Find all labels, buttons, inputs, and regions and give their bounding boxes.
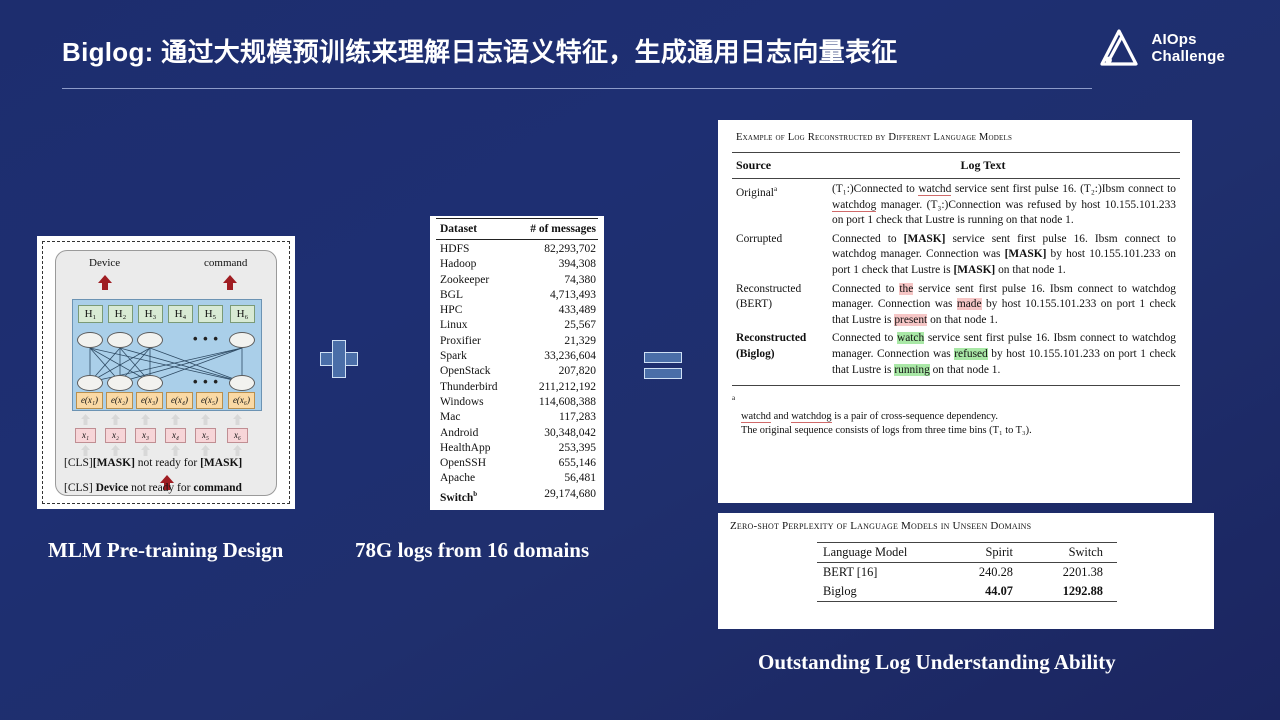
- mask-token: [MASK]: [904, 233, 946, 245]
- embedding-box: e(x₆): [228, 392, 255, 409]
- dataset-table-body: HDFS82,293,702Hadoop394,308Zookeeper74,3…: [436, 242, 598, 506]
- dataset-name-cell: Spark: [440, 349, 467, 364]
- table-row: HDFS82,293,702: [436, 242, 598, 257]
- reconstruction-logtext-cell: Connected to watch service sent first pu…: [832, 331, 1180, 378]
- mlm-pretraining-figure: Device command H₁ H₂ H₃ H₄ H₅ H₆: [37, 236, 295, 509]
- aiops-triangle-logo-icon: [1095, 24, 1143, 72]
- reconstruction-source-cell: Originala: [732, 182, 832, 229]
- perplexity-table-caption: Zero-shot Perplexity of Language Models …: [730, 520, 1204, 542]
- reconstruction-table-body: Originala(T₁:)Connected to watchd servic…: [732, 179, 1180, 378]
- embedding-box: e(x₄): [166, 392, 193, 409]
- footnote-line-1: watchd and watchdog is a pair of cross-s…: [741, 411, 998, 423]
- mlm-ellipsis-upper: • • •: [193, 331, 219, 346]
- table-row: Language Model Spirit Switch: [817, 543, 1117, 563]
- table-row: OpenStack207,820: [436, 364, 598, 379]
- perplexity-spirit-cell: 44.07: [939, 582, 1027, 602]
- reconstruction-source-cell: Reconstructed (BERT): [732, 282, 832, 329]
- dataset-name-cell: BGL: [440, 288, 463, 303]
- mlm-network-node: [107, 332, 133, 348]
- perplexity-model-cell: BERT [16]: [817, 563, 939, 583]
- aiops-challenge-logo: AIOps Challenge: [1095, 24, 1225, 72]
- log-text-segment: service sent first pulse 16. (T₂:)Ibsm c…: [951, 183, 1176, 195]
- dataset-name-cell: Hadoop: [440, 257, 476, 272]
- dataset-column-header-name: Dataset: [440, 223, 477, 235]
- page-title: Biglog: 通过大规模预训练来理解日志语义特征，生成通用日志向量表征: [62, 32, 898, 69]
- table-row: CorruptedConnected to [MASK] service sen…: [732, 229, 1180, 279]
- dataset-name-cell: OpenStack: [440, 364, 490, 379]
- log-text-segment: on that node 1.: [930, 364, 1001, 376]
- mlm-output-label-command: command: [204, 257, 247, 269]
- original-middle-words: not ready for: [131, 482, 190, 494]
- reconstruction-source-cell: Reconstructed (Biglog): [732, 331, 832, 378]
- token-box: x₃: [135, 428, 156, 443]
- source-footnote-superscript: a: [774, 185, 777, 193]
- caption-78g-logs: 78G logs from 16 domains: [355, 538, 589, 563]
- table-row: Hadoop394,308: [436, 257, 598, 272]
- dataset-message-count-cell: 207,820: [559, 364, 596, 379]
- perplexity-spirit-cell: 240.28: [939, 563, 1027, 583]
- original-cls-token: [CLS]: [64, 482, 93, 494]
- mlm-transformer-panel: H₁ H₂ H₃ H₄ H₅ H₆: [72, 299, 262, 411]
- logo-line-1: AIOps: [1152, 31, 1197, 48]
- token-box: x₂: [105, 428, 126, 443]
- log-text-segment: on that node 1.: [995, 264, 1066, 276]
- token-box: x₁: [75, 428, 96, 443]
- table-row: Biglog44.071292.88: [817, 582, 1117, 602]
- table-row: Switchb29,174,680: [436, 487, 598, 506]
- dataset-name-cell: HealthApp: [440, 441, 490, 456]
- underlined-term: watchd: [918, 183, 951, 196]
- mlm-original-sentence: [CLS] Device not ready for command: [64, 482, 242, 494]
- table-row: Zookeeper74,380: [436, 273, 598, 288]
- mask-token: [MASK]: [1005, 248, 1047, 260]
- embedding-box: e(x₅): [196, 392, 223, 409]
- table-row: Thunderbird211,212,192: [436, 380, 598, 395]
- mlm-up-arrow-icon: [111, 414, 120, 425]
- plus-sign-icon: [320, 340, 358, 378]
- token-box: x₄: [165, 428, 186, 443]
- mask-token: [MASK]: [953, 264, 995, 276]
- dataset-name-cell: Linux: [440, 318, 467, 333]
- correct-prediction-highlight: refused: [954, 348, 988, 360]
- log-text-segment: (T₁:)Connected to: [832, 183, 918, 195]
- log-text-segment: on that node 1.: [927, 314, 998, 326]
- log-text-segment: manager. (T₃:)Connection was refused by …: [832, 199, 1176, 227]
- mlm-up-arrow-icon: [141, 414, 150, 425]
- table-row: BGL4,713,493: [436, 288, 598, 303]
- perplexity-table: Language Model Spirit Switch BERT [16]24…: [817, 542, 1117, 602]
- dataset-name-cell: HPC: [440, 303, 462, 318]
- underlined-term: watchd: [741, 411, 771, 423]
- incorrect-prediction-highlight: the: [899, 283, 913, 295]
- perplexity-model-cell: Biglog: [817, 582, 939, 602]
- table-row: Originala(T₁:)Connected to watchd servic…: [732, 179, 1180, 229]
- correct-prediction-highlight: running: [894, 364, 929, 376]
- mlm-network-node: [77, 375, 103, 391]
- mlm-network-node: [229, 332, 255, 348]
- mlm-figure-dashed-border: Device command H₁ H₂ H₃ H₄ H₅ H₆: [42, 241, 290, 504]
- perplexity-column-header-model: Language Model: [817, 543, 939, 563]
- reconstruction-logtext-cell: Connected to [MASK] service sent first p…: [832, 232, 1180, 279]
- table-row: HPC433,489: [436, 303, 598, 318]
- page-header: Biglog: 通过大规模预训练来理解日志语义特征，生成通用日志向量表征 AIO…: [0, 0, 1280, 96]
- log-reconstruction-table: Example of Log Reconstructed by Differen…: [718, 120, 1192, 503]
- dataset-name-cell: Thunderbird: [440, 380, 497, 395]
- masked-cls-token: [CLS]: [64, 457, 93, 469]
- embedding-box: e(x₂): [106, 392, 133, 409]
- dataset-name-cell: Android: [440, 426, 478, 441]
- mlm-up-arrow-icon: [81, 414, 90, 425]
- mlm-up-arrow-icon: [141, 445, 150, 456]
- mlm-network-node: [229, 375, 255, 391]
- dataset-message-count-cell: 433,489: [559, 303, 596, 318]
- mlm-network-node: [77, 332, 103, 348]
- mlm-up-arrow-icon: [111, 445, 120, 456]
- dataset-message-count-cell: 114,608,388: [539, 395, 596, 410]
- dataset-message-count-cell: 82,293,702: [544, 242, 596, 257]
- token-box: x₅: [195, 428, 216, 443]
- mlm-up-arrow-icon: [233, 445, 242, 456]
- table-row: HealthApp253,395: [436, 441, 598, 456]
- dataset-message-count-cell: 74,380: [564, 273, 596, 288]
- table-row: OpenSSH655,146: [436, 456, 598, 471]
- dataset-message-count-cell: 30,348,042: [544, 426, 596, 441]
- dataset-message-count-cell: 33,236,604: [544, 349, 596, 364]
- masked-token-2: [MASK]: [200, 457, 242, 469]
- original-word-device: Device: [96, 482, 129, 494]
- perplexity-switch-cell: 2201.38: [1027, 563, 1117, 583]
- dataset-message-count-cell: 56,481: [564, 471, 596, 486]
- reconstruction-table-footnote: a watchd and watchdog is a pair of cross…: [732, 385, 1180, 437]
- table-row: Linux25,567: [436, 318, 598, 333]
- dataset-name-cell: HDFS: [440, 242, 469, 257]
- equals-sign-icon: [644, 352, 682, 378]
- perplexity-switch-cell: 1292.88: [1027, 582, 1117, 602]
- reconstruction-column-header-logtext: Log Text: [832, 158, 1180, 173]
- mlm-figure-card: Device command H₁ H₂ H₃ H₄ H₅ H₆: [55, 250, 277, 496]
- table-row: Reconstructed (Biglog)Connected to watch…: [732, 328, 1180, 378]
- log-text-segment: Connected to: [832, 283, 899, 295]
- dataset-name-cell: Windows: [440, 395, 484, 410]
- table-row: Proxifier21,329: [436, 334, 598, 349]
- mlm-up-arrow-icon: [233, 414, 242, 425]
- mlm-up-arrow-icon: [171, 414, 180, 425]
- dataset-message-count-cell: 25,567: [564, 318, 596, 333]
- reconstruction-logtext-cell: Connected to the service sent first puls…: [832, 282, 1180, 329]
- mlm-output-label-device: Device: [89, 257, 120, 269]
- table-row: Apache56,481: [436, 471, 598, 486]
- reconstruction-source-cell: Corrupted: [732, 232, 832, 279]
- log-text-segment: is a pair of cross-sequence dependency.: [832, 411, 998, 422]
- reconstruction-table-header: Source Log Text: [732, 152, 1180, 179]
- original-word-command: command: [193, 482, 242, 494]
- masked-token-1: [MASK]: [93, 457, 135, 469]
- dataset-name-superscript: b: [473, 490, 477, 498]
- log-text-segment: Connected to: [832, 233, 904, 245]
- dataset-message-count-cell: 29,174,680: [544, 487, 596, 506]
- caption-mlm-pretraining-design: MLM Pre-training Design: [48, 538, 283, 563]
- mlm-up-arrow-icon: [171, 445, 180, 456]
- table-row: Windows114,608,388: [436, 395, 598, 410]
- perplexity-column-header-switch: Switch: [1027, 543, 1117, 563]
- dataset-name-cell: OpenSSH: [440, 456, 486, 471]
- token-box: x₆: [227, 428, 248, 443]
- embedding-box: e(x₁): [76, 392, 103, 409]
- mlm-network-node: [137, 332, 163, 348]
- dataset-name-cell: Switchb: [440, 487, 477, 506]
- dataset-message-count-cell: 211,212,192: [539, 380, 596, 395]
- reconstruction-table-caption: Example of Log Reconstructed by Differen…: [732, 128, 1180, 152]
- caption-outstanding-ability: Outstanding Log Understanding Ability: [758, 650, 1116, 675]
- reconstruction-logtext-cell: (T₁:)Connected to watchd service sent fi…: [832, 182, 1180, 229]
- logo-wordmark: AIOps Challenge: [1152, 31, 1225, 65]
- footnote-line-2: The original sequence consists of logs f…: [741, 425, 1032, 436]
- mlm-masked-sentence: [CLS][MASK] not ready for [MASK]: [64, 457, 242, 469]
- table-row: BERT [16]240.282201.38: [817, 563, 1117, 583]
- mlm-up-arrow-icon: [201, 445, 210, 456]
- mlm-network-node: [107, 375, 133, 391]
- embedding-box: e(x₃): [136, 392, 163, 409]
- perplexity-column-header-spirit: Spirit: [939, 543, 1027, 563]
- header-divider: [62, 88, 1092, 89]
- table-row: Spark33,236,604: [436, 349, 598, 364]
- dataset-message-count-cell: 4,713,493: [550, 288, 596, 303]
- dataset-message-count-cell: 21,329: [564, 334, 596, 349]
- underlined-term: watchdog: [791, 411, 831, 423]
- dataset-column-header-messages: # of messages: [530, 223, 596, 235]
- underlined-term: watchdog: [832, 199, 876, 212]
- perplexity-table-header: Language Model Spirit Switch: [817, 543, 1117, 563]
- log-text-segment: Connected to: [832, 332, 897, 344]
- dataset-message-count-cell: 394,308: [559, 257, 596, 272]
- reconstruction-column-header-source: Source: [732, 158, 832, 173]
- perplexity-table-body: BERT [16]240.282201.38Biglog44.071292.88: [817, 563, 1117, 602]
- dataset-name-cell: Mac: [440, 410, 460, 425]
- dataset-name-cell: Proxifier: [440, 334, 481, 349]
- dataset-message-count-cell: 655,146: [559, 456, 596, 471]
- mlm-up-arrow-icon: [81, 445, 90, 456]
- mlm-up-arrow-icon: [201, 414, 210, 425]
- correct-prediction-highlight: watch: [897, 332, 924, 344]
- mlm-ellipsis-lower: • • •: [193, 374, 219, 389]
- dataset-name-cell: Zookeeper: [440, 273, 489, 288]
- dataset-message-count-table: Dataset # of messages HDFS82,293,702Hado…: [430, 216, 604, 510]
- dataset-message-count-cell: 253,395: [559, 441, 596, 456]
- footnote-marker: a: [732, 394, 735, 402]
- dataset-table-header: Dataset # of messages: [436, 218, 598, 240]
- table-row: Reconstructed (BERT)Connected to the ser…: [732, 279, 1180, 329]
- incorrect-prediction-highlight: made: [957, 298, 982, 310]
- masked-middle-words: not ready for: [138, 457, 197, 469]
- incorrect-prediction-highlight: present: [894, 314, 927, 326]
- table-row: Android30,348,042: [436, 426, 598, 441]
- dataset-message-count-cell: 117,283: [559, 410, 596, 425]
- mlm-network-node: [137, 375, 163, 391]
- log-text-segment: and: [771, 411, 791, 422]
- logo-line-2: Challenge: [1152, 48, 1225, 65]
- dataset-name-cell: Apache: [440, 471, 475, 486]
- table-row: Mac117,283: [436, 410, 598, 425]
- zero-shot-perplexity-table: Zero-shot Perplexity of Language Models …: [718, 513, 1214, 629]
